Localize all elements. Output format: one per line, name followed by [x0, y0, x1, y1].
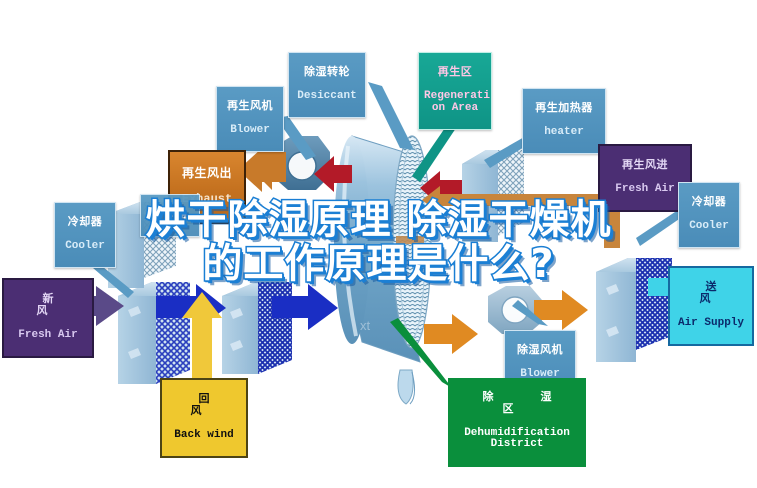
label-cooler-right-en: Cooler: [684, 221, 734, 233]
label-cooler-right-cn: 冷却器: [684, 197, 734, 209]
label-dehumidification-district-cn: 除 湿 区: [456, 392, 578, 416]
label-dehumidification-district-en: Dehumidification District: [456, 428, 578, 452]
label-fresh-air-inlet: 新 风 Fresh Air: [2, 278, 94, 358]
label-dehumidification-blower-cn: 除湿风机: [510, 345, 570, 357]
label-desiccant-wheel-cn: 除湿转轮: [294, 67, 360, 79]
diagram-canvas: xt: [0, 0, 757, 488]
label-fresh-air-inlet-cn: 新 风: [10, 294, 86, 318]
label-dehumidification-district: 除 湿 区 Dehumidification District: [448, 378, 586, 467]
label-air-supply-cn: 送 风: [676, 282, 746, 306]
label-air-supply: 送 风 Air Supply: [668, 266, 754, 346]
label-regeneration-area: 再生区 Regenerati on Area: [418, 52, 492, 130]
label-regeneration-area-cn: 再生区: [424, 67, 486, 79]
label-regeneration-blower-cn: 再生风机: [222, 101, 278, 113]
label-back-wind-cn: 回 风: [168, 394, 240, 418]
label-exhaust-cn: 再生风出: [176, 167, 238, 180]
label-air-supply-en: Air Supply: [676, 318, 746, 330]
label-desiccant-wheel-en: Desiccant: [294, 91, 360, 103]
label-fresh-air-inlet-en: Fresh Air: [10, 330, 86, 342]
label-back-wind: 回 风 Back wind: [160, 378, 248, 458]
label-cooler-left-2-cn: 冷却器: [146, 209, 194, 221]
label-regeneration-heater-cn: 再生加热器: [528, 103, 600, 115]
label-regeneration-fresh-air-en: Fresh Air: [606, 184, 684, 196]
label-cooler-left-cn: 冷却器: [60, 217, 110, 229]
label-cooler-right: 冷却器 Cooler: [678, 182, 740, 248]
label-cooler-left: 冷却器 Cooler: [54, 202, 116, 268]
label-regeneration-blower-en: Blower: [222, 125, 278, 137]
label-regeneration-heater-en: heater: [528, 127, 600, 139]
label-cooler-left-2: 冷却器: [140, 194, 200, 237]
label-regeneration-blower: 再生风机 Blower: [216, 86, 284, 152]
label-desiccant-wheel: 除湿转轮 Desiccant: [288, 52, 366, 118]
label-cooler-left-en: Cooler: [60, 241, 110, 253]
label-regeneration-heater: 再生加热器 heater: [522, 88, 606, 154]
label-regeneration-fresh-air-cn: 再生风进: [606, 160, 684, 172]
label-regeneration-area-en: Regenerati on Area: [424, 91, 486, 115]
label-back-wind-en: Back wind: [168, 430, 240, 442]
